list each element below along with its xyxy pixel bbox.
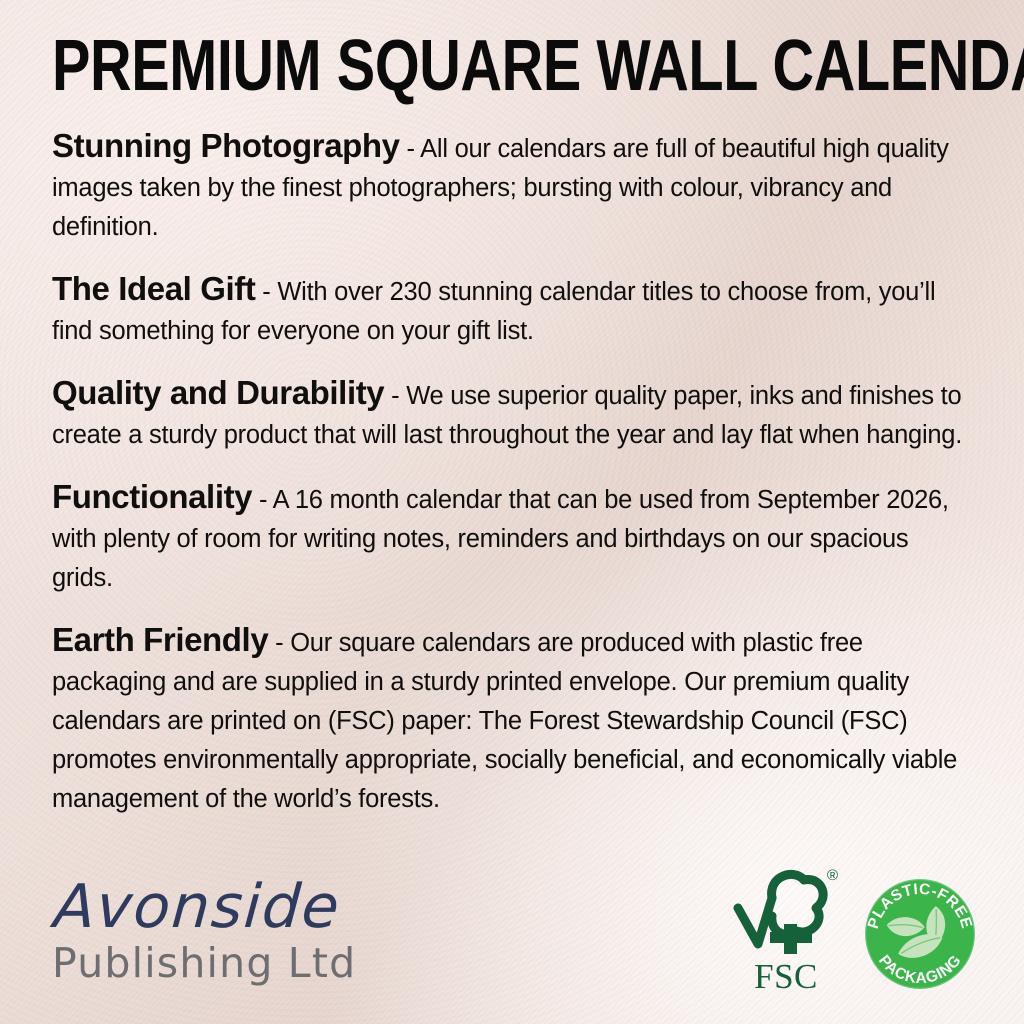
section-heading: Earth Friendly (52, 621, 268, 658)
section-dash: - (255, 278, 277, 306)
plastic-free-badge-icon: PLASTIC-FREE PACKAGING (862, 876, 978, 992)
section-paragraph: Quality and Durability - We use superior… (52, 373, 972, 455)
brand-subtitle: Publishing Ltd (52, 943, 356, 984)
section-heading: The Ideal Gift (52, 270, 255, 307)
section-the-ideal-gift: The Ideal Gift - With over 230 stunning … (52, 269, 972, 351)
fsc-label: FSC (732, 959, 840, 994)
section-stunning-photography: Stunning Photography - All our calendars… (52, 126, 972, 247)
section-paragraph: Earth Friendly - Our square calendars ar… (52, 620, 972, 819)
fsc-logo: ® FSC (732, 868, 840, 992)
fsc-tree-checkmark-icon (732, 868, 840, 964)
feature-sections: Stunning Photography - All our calendars… (52, 126, 972, 819)
section-paragraph: Functionality - A 16 month calendar that… (52, 477, 972, 598)
section-dash: - (268, 629, 290, 657)
certification-marks: ® FSC (732, 868, 978, 1010)
section-paragraph: The Ideal Gift - With over 230 stunning … (52, 269, 972, 351)
brand-logo: Avonside Publishing Ltd (52, 877, 356, 1010)
section-earth-friendly: Earth Friendly - Our square calendars ar… (52, 620, 972, 819)
section-functionality: Functionality - A 16 month calendar that… (52, 477, 972, 598)
section-quality-and-durability: Quality and Durability - We use superior… (52, 373, 972, 455)
section-heading: Stunning Photography (52, 127, 400, 164)
footer: Avonside Publishing Ltd (0, 860, 1024, 1010)
section-dash: - (384, 382, 406, 410)
plastic-free-packaging-badge: PLASTIC-FREE PACKAGING (862, 876, 978, 992)
section-dash: - (252, 486, 273, 514)
section-heading: Functionality (52, 478, 252, 515)
page-title: PREMIUM SQUARE WALL CALENDARS (52, 0, 788, 102)
section-heading: Quality and Durability (52, 374, 384, 411)
content-area: PREMIUM SQUARE WALL CALENDARS Stunning P… (0, 0, 1024, 819)
section-dash: - (400, 135, 421, 163)
section-paragraph: Stunning Photography - All our calendars… (52, 126, 972, 247)
brand-name: Avonside (52, 877, 342, 937)
promo-graphic: PREMIUM SQUARE WALL CALENDARS Stunning P… (0, 0, 1024, 1024)
registered-trademark-icon: ® (827, 868, 838, 883)
